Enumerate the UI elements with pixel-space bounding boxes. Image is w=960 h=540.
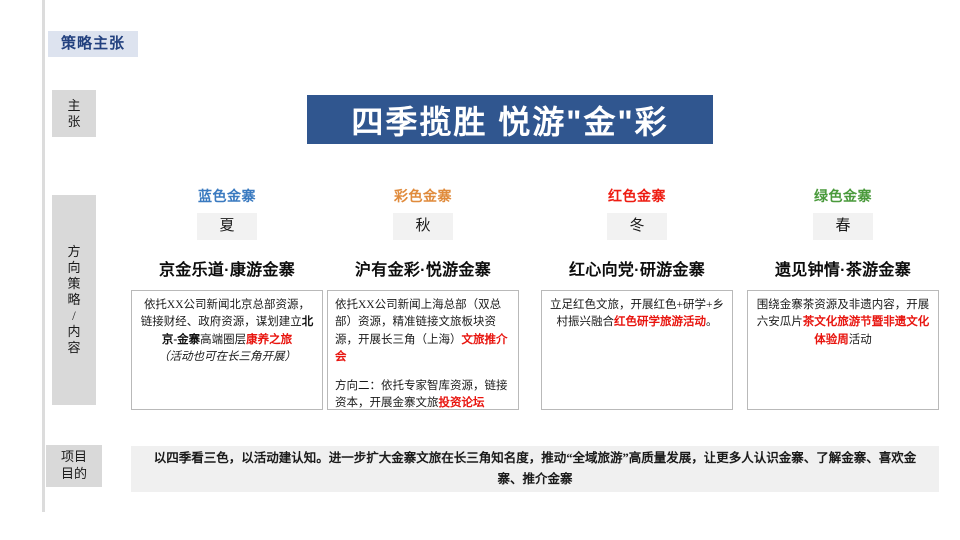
text-run-red: 投资论坛: [439, 397, 485, 409]
column-color-name: 红色金寨: [541, 186, 733, 206]
season-chip: 冬: [607, 213, 666, 240]
content-paragraph: 依托XX公司新闻上海总部（双总部）资源，精准链接文旅板块资源，开展长三角（上海）…: [335, 297, 511, 367]
text-run-italic: （活动也可在长三角开展）: [158, 351, 296, 363]
row-label-strategy-text: 方向策略/内容: [67, 244, 80, 355]
left-vertical-rule: [42, 0, 45, 512]
text-run-red: 康养之旅: [246, 334, 292, 346]
strategy-column-3: 绿色金寨 春 遗见钟情·茶游金寨 围绕金寨茶资源及非遗内容，开展六安瓜片茶文化旅…: [747, 186, 939, 410]
row-label-claim-text: 主张: [67, 98, 80, 130]
season-chip-wrap: 冬: [541, 213, 733, 240]
season-chip: 夏: [197, 213, 256, 240]
column-heading: 京金乐道·康游金寨: [131, 256, 323, 280]
row-label-claim: 主张: [52, 90, 96, 137]
project-purpose-band: 以四季看三色，以活动建认知。进一步扩大金寨文旅在长三角知名度，推动“全域旅游”高…: [131, 446, 939, 492]
row-label-strategy: 方向策略/内容: [52, 195, 96, 405]
column-heading: 遗见钟情·茶游金寨: [747, 256, 939, 280]
text-run-normal: 。: [706, 316, 718, 328]
season-chip: 秋: [393, 213, 452, 240]
section-tag: 策略主张: [48, 31, 138, 57]
column-heading: 红心向党·研游金寨: [541, 256, 733, 280]
column-content-box: 围绕金寨茶资源及非遗内容，开展六安瓜片茶文化旅游节暨非遗文化体验周活动: [747, 290, 939, 410]
season-chip-wrap: 春: [747, 213, 939, 240]
season-chip-wrap: 夏: [131, 213, 323, 240]
text-run-red: 红色研学旅游活动: [614, 316, 706, 328]
text-run-normal: 高端圈层: [200, 334, 246, 346]
content-paragraph: 方向二：依托专家智库资源，链接资本，开展金寨文旅投资论坛: [335, 378, 511, 410]
strategy-column-1: 彩色金寨 秋 沪有金彩·悦游金寨 依托XX公司新闻上海总部（双总部）资源，精准链…: [327, 186, 519, 410]
season-chip: 春: [813, 213, 872, 240]
column-content-box: 依托XX公司新闻北京总部资源，链接财经、政府资源，谋划建立北京-金寨高端圈层康养…: [131, 290, 323, 410]
banner-title: 四季揽胜 悦游"金"彩: [351, 97, 668, 143]
text-run-normal: 依托XX公司新闻北京总部资源，链接财经、政府资源，谋划建立: [141, 299, 310, 328]
content-paragraph: 立足红色文旅，开展红色+研学+乡村振兴融合红色研学旅游活动。: [549, 297, 725, 332]
slide-canvas: 策略主张 主张 方向策略/内容 项目目的 四季揽胜 悦游"金"彩 蓝色金寨 夏 …: [0, 0, 960, 540]
column-content-box: 依托XX公司新闻上海总部（双总部）资源，精准链接文旅板块资源，开展长三角（上海）…: [327, 290, 519, 410]
content-paragraph: 围绕金寨茶资源及非遗内容，开展六安瓜片茶文化旅游节暨非遗文化体验周活动: [755, 297, 931, 349]
column-heading: 沪有金彩·悦游金寨: [327, 256, 519, 280]
column-content-box: 立足红色文旅，开展红色+研学+乡村振兴融合红色研学旅游活动。: [541, 290, 733, 410]
column-color-name: 彩色金寨: [327, 186, 519, 206]
column-color-name: 绿色金寨: [747, 186, 939, 206]
season-chip-wrap: 秋: [327, 213, 519, 240]
row-label-purpose: 项目目的: [46, 445, 102, 487]
strategy-column-2: 红色金寨 冬 红心向党·研游金寨 立足红色文旅，开展红色+研学+乡村振兴融合红色…: [541, 186, 733, 410]
project-purpose-text: 以四季看三色，以活动建认知。进一步扩大金寨文旅在长三角知名度，推动“全域旅游”高…: [143, 448, 927, 489]
text-run-normal: 活动: [849, 334, 872, 346]
main-banner: 四季揽胜 悦游"金"彩: [307, 95, 713, 144]
row-label-purpose-text: 项目目的: [61, 449, 87, 483]
strategy-column-0: 蓝色金寨 夏 京金乐道·康游金寨 依托XX公司新闻北京总部资源，链接财经、政府资…: [131, 186, 323, 410]
column-color-name: 蓝色金寨: [131, 186, 323, 206]
content-paragraph: 依托XX公司新闻北京总部资源，链接财经、政府资源，谋划建立北京-金寨高端圈层康养…: [139, 297, 315, 367]
